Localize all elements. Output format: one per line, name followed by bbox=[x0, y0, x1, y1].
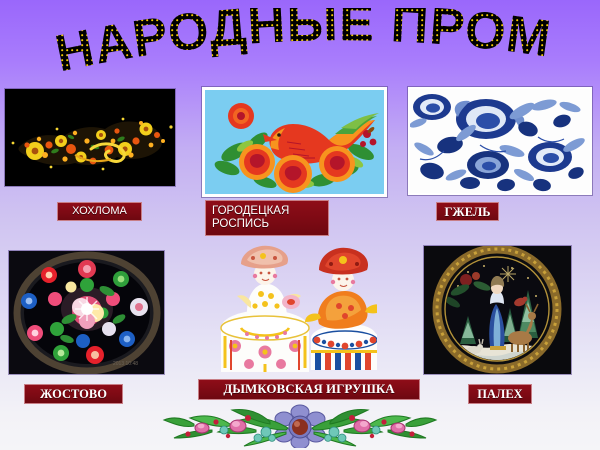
caption-gorodets-line1: ГОРОДЕЦКАЯ bbox=[212, 205, 289, 218]
caption-dymkovo: ДЫМКОВСКАЯ ИГРУШКА bbox=[198, 379, 420, 400]
image-palekh bbox=[424, 246, 571, 374]
caption-gzhel-label: ГЖЕЛЬ bbox=[444, 205, 490, 219]
caption-palekh-label: ПАЛЕХ bbox=[477, 387, 522, 401]
image-gorodets bbox=[202, 87, 387, 197]
caption-zhostovo-label: ЖОСТОВО bbox=[40, 387, 107, 401]
gorodets-svg bbox=[205, 90, 384, 194]
caption-khokhloma: ХОХЛОМА bbox=[57, 202, 142, 221]
gzhel-artwork bbox=[410, 89, 590, 193]
palekh-svg bbox=[424, 246, 571, 374]
caption-zhostovo: ЖОСТОВО bbox=[24, 384, 123, 404]
caption-gzhel: ГЖЕЛЬ bbox=[436, 202, 499, 221]
gorodets-artwork bbox=[205, 90, 384, 194]
caption-gorodets: ГОРОДЕЦКАЯ РОСПИСЬ bbox=[205, 200, 329, 236]
floral-ornament bbox=[160, 404, 440, 448]
caption-gorodets-line2: РОСПИСЬ bbox=[212, 218, 269, 231]
palekh-artwork bbox=[424, 246, 571, 374]
slide-canvas: НАРОДНЫЕ ПРОМЫСЛЫ bbox=[0, 0, 600, 450]
khokhloma-svg bbox=[5, 89, 175, 186]
image-dymkovo bbox=[207, 240, 377, 378]
gzhel-svg bbox=[410, 89, 590, 193]
zhostovo-artwork: 2013 10:48 bbox=[9, 251, 164, 374]
zhostovo-svg: 2013 10:48 bbox=[9, 251, 164, 374]
dymkovo-svg bbox=[207, 240, 377, 378]
khokhloma-artwork bbox=[5, 89, 175, 186]
page-title: НАРОДНЫЕ ПРОМЫСЛЫ bbox=[0, 8, 600, 78]
dymkovo-artwork bbox=[207, 240, 377, 378]
title-text: НАРОДНЫЕ ПРОМЫСЛЫ bbox=[10, 8, 555, 80]
image-gzhel bbox=[408, 87, 592, 195]
title-artwork: НАРОДНЫЕ ПРОМЫСЛЫ bbox=[10, 8, 590, 80]
image-khokhloma bbox=[5, 89, 175, 186]
caption-dymkovo-label: ДЫМКОВСКАЯ ИГРУШКА bbox=[223, 382, 394, 397]
image-zhostovo: 2013 10:48 bbox=[9, 251, 164, 374]
svg-text:2013 10:48: 2013 10:48 bbox=[113, 361, 138, 367]
floral-ornament-svg bbox=[160, 404, 440, 448]
caption-khokhloma-label: ХОХЛОМА bbox=[72, 205, 127, 217]
caption-palekh: ПАЛЕХ bbox=[468, 384, 532, 404]
